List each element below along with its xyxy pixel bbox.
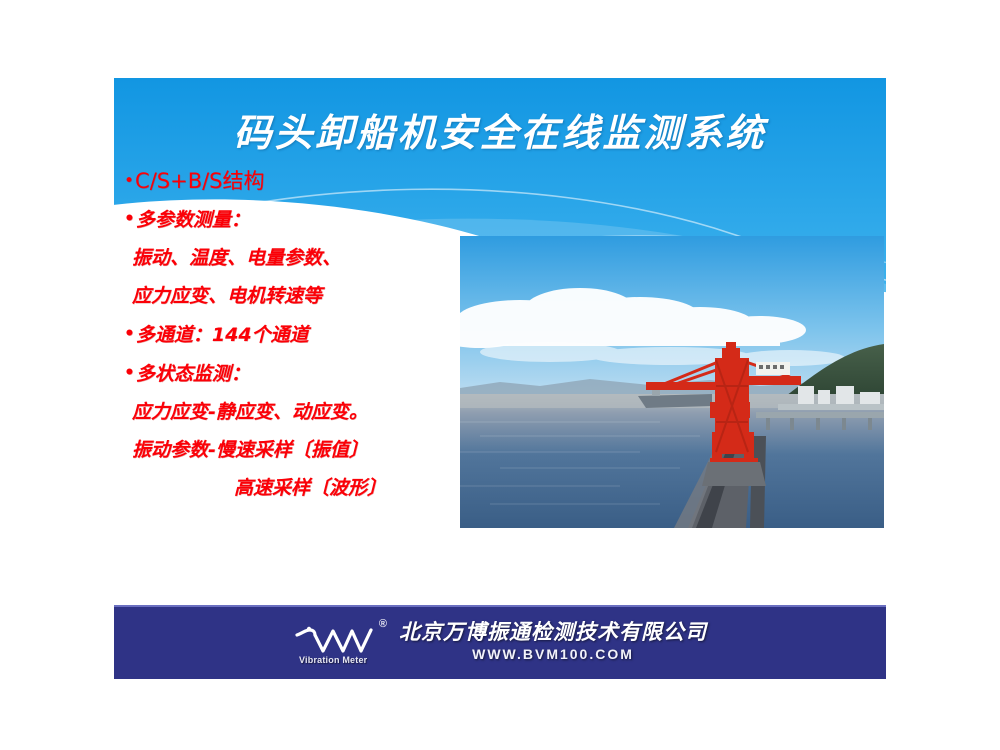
ship-unloader-photo (460, 236, 884, 528)
bullet-text: 应力应变-静应变、动应变。 (132, 401, 368, 423)
bullet-marker: • (124, 171, 134, 191)
bullet-text: C/S+B/S结构 (135, 169, 264, 193)
vm-waveform-icon (293, 618, 389, 658)
bullet-line-1: •C/S+B/S结构 (124, 162, 494, 200)
footer-content: ® Vibration Meter 北京万博振通检测技术有限公司 WWW.BVM… (293, 618, 707, 664)
logo-tagline: Vibration Meter (299, 655, 367, 665)
bullet-line-6: •多状态监测： (124, 354, 494, 393)
bullet-line-2: •多参数测量： (124, 200, 494, 239)
bullet-text: 振动参数-慢速采样〔振值〕 (132, 439, 368, 461)
bullet-marker: • (124, 209, 135, 229)
bullet-line-8: 振动参数-慢速采样〔振值〕 (124, 431, 494, 469)
vibration-meter-logo: ® Vibration Meter (293, 618, 389, 664)
slide-title: 码头卸船机安全在线监测系统 (114, 102, 886, 157)
bullet-line-9: 高速采样〔波形〕 (124, 469, 494, 507)
bullet-text: 多参数测量： (136, 209, 250, 231)
bullet-text: 多状态监测： (136, 363, 250, 385)
slide-body-text: •C/S+B/S结构 •多参数测量： 振动、温度、电量参数、 应力应变、电机转速… (124, 162, 494, 507)
bullet-text: 应力应变、电机转速等 (132, 285, 322, 307)
bullet-text: 高速采样〔波形〕 (234, 477, 386, 499)
company-website: WWW.BVM100.COM (399, 645, 707, 663)
presentation-slide: 码头卸船机安全在线监测系统 •C/S+B/S结构 •多参数测量： 振动、温度、电… (114, 78, 886, 679)
bullet-line-3: 振动、温度、电量参数、 (124, 239, 494, 277)
registered-trademark-icon: ® (379, 618, 387, 630)
company-name: 北京万博振通检测技术有限公司 (399, 620, 707, 645)
bullet-text: 多通道：144个通道 (136, 324, 309, 346)
bullet-marker: • (124, 363, 135, 383)
bullet-text: 振动、温度、电量参数、 (132, 247, 341, 269)
bullet-marker: • (124, 324, 135, 344)
bullet-line-5: •多通道：144个通道 (124, 315, 494, 354)
company-identity: 北京万博振通检测技术有限公司 WWW.BVM100.COM (399, 620, 707, 663)
bullet-line-7: 应力应变-静应变、动应变。 (124, 393, 494, 431)
bullet-line-4: 应力应变、电机转速等 (124, 277, 494, 315)
slide-footer-bar: ® Vibration Meter 北京万博振通检测技术有限公司 WWW.BVM… (114, 605, 886, 679)
